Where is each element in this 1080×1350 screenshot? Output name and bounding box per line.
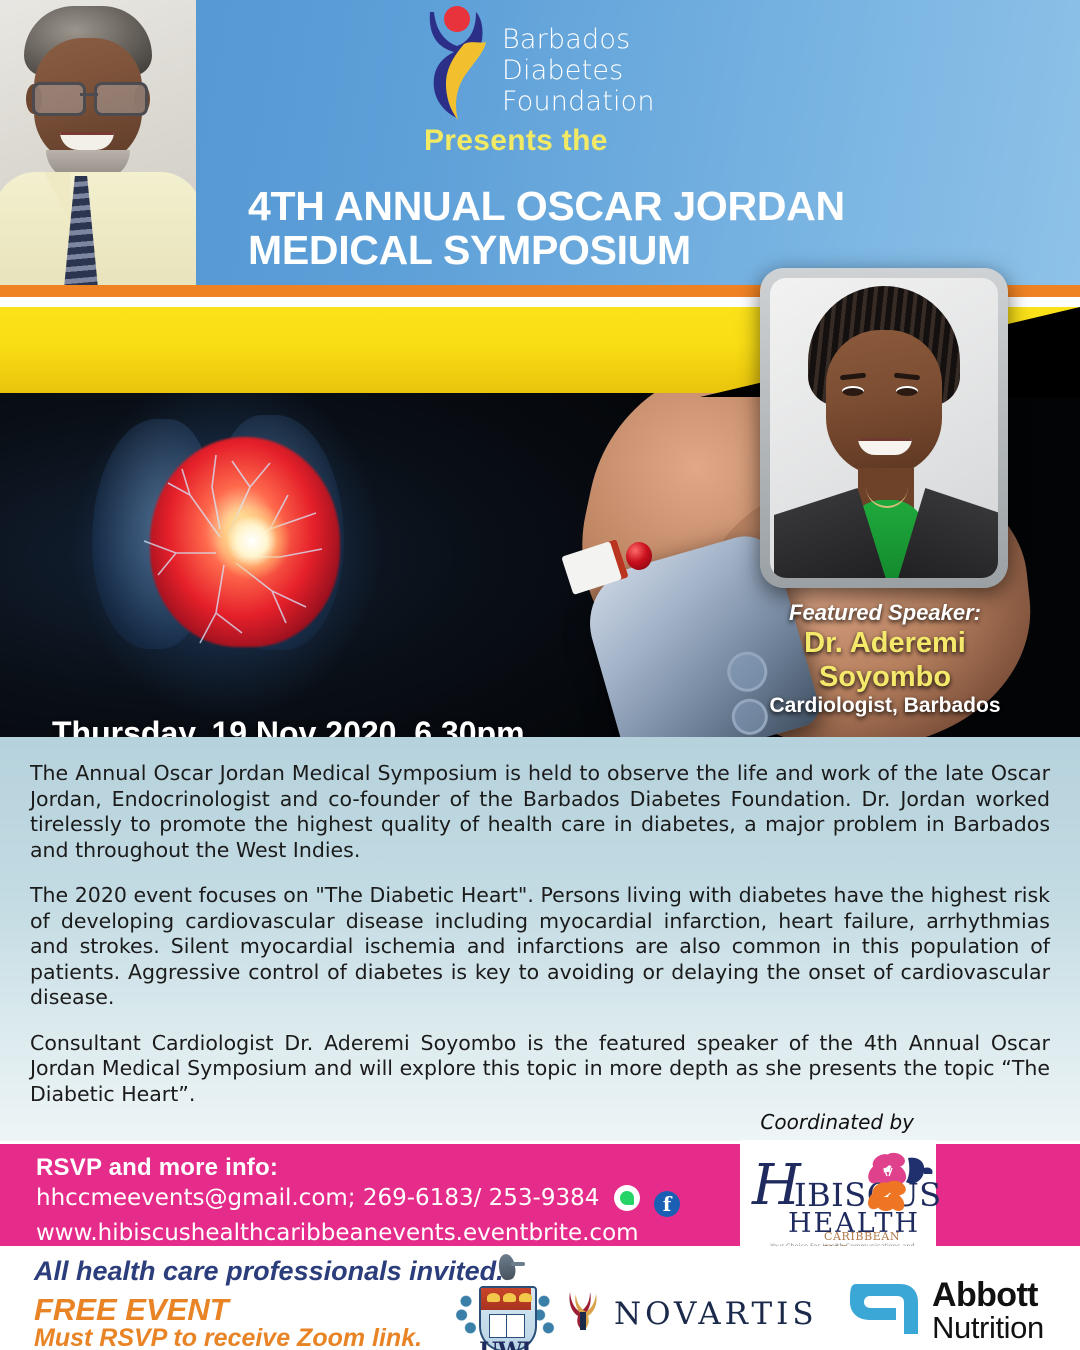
novartis-label: NOVARTIS <box>614 1296 818 1332</box>
speaker-eye-right <box>896 386 918 396</box>
speaker-role: Cardiologist, Barbados <box>742 694 1028 718</box>
sponsor-novartis: NOVARTIS <box>566 1290 818 1336</box>
header-band: Barbados Diabetes Foundation Presents th… <box>0 0 1080 285</box>
presents-label: Presents the <box>424 124 608 158</box>
logo-line-3: Foundation <box>502 86 655 117</box>
uwi-lion-3 <box>519 1293 532 1302</box>
glowing-heart-icon <box>150 437 340 647</box>
speaker-name: Dr. Aderemi Soyombo <box>742 626 1028 694</box>
rsvp-note: Must RSVP to receive Zoom link. <box>34 1324 422 1350</box>
topic-title: THE DIABETIC HEART <box>52 639 536 693</box>
facebook-icon[interactable]: f <box>654 1191 680 1217</box>
about-paragraph-1: The Annual Oscar Jordan Medical Symposiu… <box>30 761 1050 863</box>
rsvp-block: RSVP and more info: hhccmeevents@gmail.c… <box>36 1154 680 1249</box>
speaker-eye-left <box>842 386 864 396</box>
abbott-label-bottom: Nutrition <box>932 1310 1044 1346</box>
sponsor-uwi: UWI <box>455 1252 555 1350</box>
novartis-flame-icon <box>566 1290 600 1330</box>
logo-line-1: Barbados <box>502 24 655 55</box>
invite-line: All health care professionals invited. <box>34 1256 504 1287</box>
vascular-network <box>120 417 380 667</box>
oscar-jordan-portrait <box>0 0 196 285</box>
featured-speaker-label: Featured Speaker: <box>742 600 1028 626</box>
speaker-caption: Featured Speaker: Dr. Aderemi Soyombo Ca… <box>742 600 1028 718</box>
torso-silhouette <box>40 367 400 737</box>
uwi-lion-1 <box>487 1293 500 1302</box>
about-paragraph-2: The 2020 event focuses on "The Diabetic … <box>30 883 1050 1011</box>
uwi-open-book-icon <box>489 1314 525 1338</box>
foundation-logo-text: Barbados Diabetes Foundation <box>502 24 655 117</box>
barbados-diabetes-foundation-logo-icon <box>424 4 494 120</box>
page-title: 4TH ANNUAL OSCAR JORDAN MEDICAL SYMPOSIU… <box>248 184 948 272</box>
speaker-portrait <box>770 278 998 578</box>
lung-right <box>216 415 344 650</box>
whatsapp-icon[interactable] <box>614 1185 640 1211</box>
foundation-logo: Barbados Diabetes Foundation <box>424 4 654 122</box>
about-paragraph-3: Consultant Cardiologist Dr. Aderemi Soyo… <box>30 1031 1050 1108</box>
uwi-lion-2 <box>503 1293 516 1302</box>
heart-glow <box>214 503 290 579</box>
hibiscus-health-logo: H IBISCUS HEALTH CARIBBEAN INC. Your Cho… <box>746 1150 932 1246</box>
test-strip <box>561 539 629 595</box>
uwi-pelican-beak <box>511 1262 525 1266</box>
free-event-label: FREE EVENT <box>34 1292 229 1328</box>
logo-line-2: Diabetes <box>502 55 655 86</box>
rsvp-heading: RSVP and more info: <box>36 1154 680 1182</box>
about-section: The Annual Oscar Jordan Medical Symposiu… <box>0 737 1080 1141</box>
hibiscus-flower-hummingbird-icon <box>862 1152 936 1212</box>
blood-drop-icon <box>626 542 652 570</box>
coordinated-by-label: Coordinated by <box>760 1110 914 1134</box>
uwi-pelican-icon <box>497 1253 516 1281</box>
rsvp-contact-text[interactable]: hhccmeevents@gmail.com; 269-6183/ 253-93… <box>36 1185 599 1211</box>
event-flyer: Barbados Diabetes Foundation Presents th… <box>0 0 1080 1350</box>
eyeglasses-icon <box>28 82 150 112</box>
speaker-smile <box>858 438 912 455</box>
lung-left <box>92 419 212 649</box>
abbott-a-icon <box>848 1280 922 1338</box>
rsvp-contact-line: hhccmeevents@gmail.com; 269-6183/ 253-93… <box>36 1182 680 1217</box>
uwi-wreath-left <box>455 1292 477 1338</box>
rsvp-website[interactable]: www.hibiscushealthcaribbeanevents.eventb… <box>36 1217 680 1249</box>
uwi-label: UWI <box>455 1338 555 1350</box>
portrait-collar <box>44 172 70 220</box>
speaker-photo-card <box>760 268 1008 588</box>
sponsor-abbott: Abbott Nutrition <box>848 1276 1068 1346</box>
portrait-shirt <box>0 172 196 285</box>
